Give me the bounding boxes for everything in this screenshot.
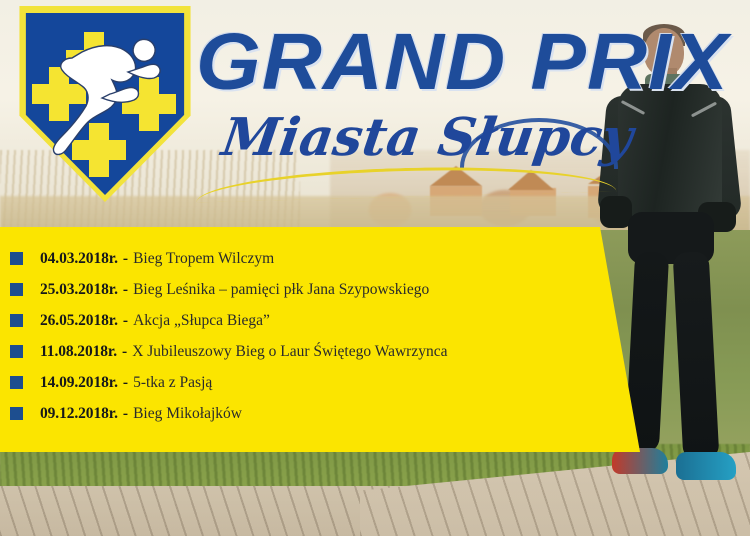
bullet-square-icon	[10, 283, 23, 296]
event-date: 11.08.2018r.	[40, 343, 117, 361]
event-dash: -	[118, 281, 133, 299]
sponsor-strip: MOSiR ANMAR Stowarzyszenie na Rzecz Rozw…	[0, 452, 750, 536]
bullet-square-icon	[10, 345, 23, 358]
event-date: 04.03.2018r.	[40, 250, 118, 268]
bullet-square-icon	[10, 407, 23, 420]
event-dash: -	[117, 343, 132, 361]
list-item: 25.03.2018r. - Bieg Leśnika – pamięci pł…	[0, 274, 600, 305]
event-name: X Jubileuszowy Bieg o Laur Świętego Wawr…	[132, 343, 447, 361]
list-item: 11.08.2018r. - X Jubileuszowy Bieg o Lau…	[0, 336, 600, 367]
event-dash: -	[118, 250, 133, 268]
event-dash: -	[118, 312, 133, 330]
event-name: Bieg Mikołajków	[133, 405, 242, 423]
event-list: 04.03.2018r. - Bieg Tropem Wilczym 25.03…	[0, 227, 600, 452]
page-title: GRAND PRIX	[196, 14, 633, 112]
list-item: 09.12.2018r. - Bieg Mikołajków	[0, 398, 600, 429]
page-subtitle: Miasta Słupcy	[217, 106, 627, 176]
list-item: 14.09.2018r. - 5-tka z Pasją	[0, 367, 600, 398]
emblem-runner-silhouette-icon	[42, 28, 172, 168]
event-name: Bieg Tropem Wilczym	[133, 250, 274, 268]
bullet-square-icon	[10, 376, 23, 389]
bullet-square-icon	[10, 252, 23, 265]
list-item: 26.05.2018r. - Akcja „Słupca Biega”	[0, 305, 600, 336]
list-item: 04.03.2018r. - Bieg Tropem Wilczym	[0, 243, 600, 274]
event-name: Bieg Leśnika – pamięci płk Jana Szypowsk…	[133, 281, 429, 299]
bullet-square-icon	[10, 314, 23, 327]
event-dash: -	[118, 405, 133, 423]
event-dash: -	[118, 374, 133, 392]
grand-prix-emblem-icon	[12, 6, 198, 202]
event-date: 09.12.2018r.	[40, 405, 118, 423]
event-date: 14.09.2018r.	[40, 374, 118, 392]
event-name: 5-tka z Pasją	[133, 374, 212, 392]
poster-root: GRAND PRIX Miasta Słupcy 04.03.2018r. -	[0, 0, 750, 536]
event-date: 26.05.2018r.	[40, 312, 118, 330]
event-date: 25.03.2018r.	[40, 281, 118, 299]
runner-right-leg	[673, 251, 720, 461]
event-name: Akcja „Słupca Biega”	[133, 312, 270, 330]
